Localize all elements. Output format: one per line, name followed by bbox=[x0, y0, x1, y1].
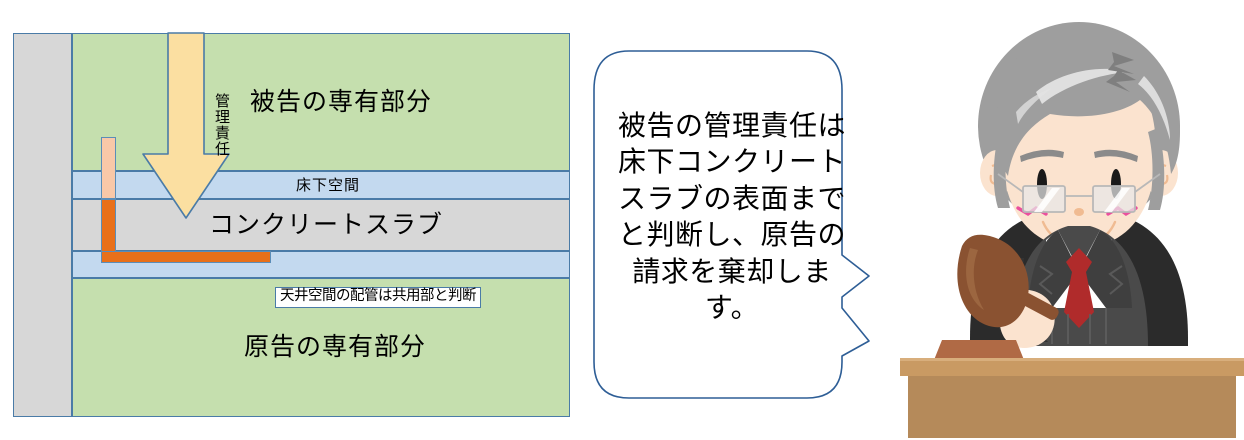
pipe-horizontal bbox=[101, 251, 271, 263]
pipe-note-label: 天井空間の配管は共用部と判断 bbox=[275, 287, 481, 308]
sound-block bbox=[934, 340, 1024, 360]
bench-desk bbox=[900, 358, 1244, 438]
speech-bubble-text: 被告の管理責任は床下コンクリートスラブの表面までと判断し、原告の請求を棄却します… bbox=[613, 108, 851, 326]
judge-illustration bbox=[900, 8, 1244, 440]
layer-label-plaintiff: 原告の専有部分 bbox=[244, 335, 426, 360]
building-cross-section-diagram: 被告の専有部分 床下空間 コンクリートスラブ 原告の専有部分 管理責任 bbox=[13, 33, 570, 417]
arrow-label-management-responsibility: 管理責任 bbox=[142, 50, 230, 200]
layer-label-under-floor: 床下空間 bbox=[296, 178, 360, 193]
illustration-canvas: 被告の専有部分 床下空間 コンクリートスラブ 原告の専有部分 管理責任 bbox=[0, 0, 1244, 440]
management-responsibility-arrow: 管理責任 bbox=[142, 32, 230, 228]
layer-label-defendant: 被告の専有部分 bbox=[250, 90, 432, 115]
wall-column bbox=[13, 33, 72, 417]
layer-label-concrete-slab: コンクリートスラブ bbox=[209, 213, 443, 238]
pipe-vertical-upper bbox=[101, 137, 116, 199]
speech-bubble: 被告の管理責任は床下コンクリートスラブの表面までと判断し、原告の請求を棄却します… bbox=[593, 50, 870, 399]
nose bbox=[1074, 208, 1084, 216]
